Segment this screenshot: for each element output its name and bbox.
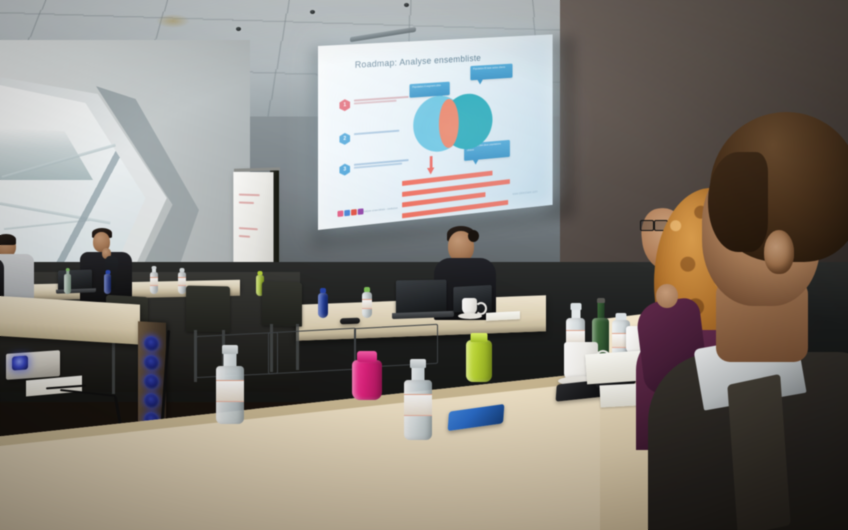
bottle-cap <box>65 268 70 271</box>
bullet-badge-icon: 1 <box>339 99 350 112</box>
bottle-body <box>104 274 111 294</box>
ceiling-stain <box>156 14 190 28</box>
water-bottle-presenter[interactable] <box>318 284 328 318</box>
slide-callout-right: Population B base active clients <box>470 64 512 81</box>
chair[interactable] <box>186 286 230 333</box>
man-suit-lapel <box>727 374 790 530</box>
man-sideburn <box>708 152 768 252</box>
hair <box>0 234 16 245</box>
chair-leg <box>112 340 115 394</box>
bullet-text-lines <box>354 158 409 170</box>
chair[interactable] <box>262 281 302 326</box>
laptop-presenter[interactable] <box>396 280 447 315</box>
flipchart-scribble <box>239 227 258 230</box>
power-socket[interactable] <box>144 393 159 409</box>
water-bottle-presenter-2[interactable] <box>362 282 372 318</box>
bottle-cap <box>364 287 370 292</box>
left-side-table <box>0 295 140 344</box>
bottle-label <box>150 277 158 286</box>
power-socket[interactable] <box>144 336 159 352</box>
flipchart-scribble <box>239 194 260 196</box>
phone-presenter[interactable] <box>340 318 360 325</box>
down-arrow-icon <box>430 156 433 169</box>
slide-logo <box>338 208 364 217</box>
projector-lens-icon <box>12 355 28 370</box>
flipchart-scribble <box>239 235 250 237</box>
power-socket[interactable] <box>144 374 159 390</box>
cup-saucer <box>458 313 482 319</box>
bullet-text-lines <box>354 128 409 136</box>
bottle-body <box>318 293 328 318</box>
presenter-bun <box>468 230 479 242</box>
bottle-cap <box>180 268 185 272</box>
bullet-badge-number: 3 <box>343 167 346 173</box>
bullet-badge-icon: 2 <box>339 133 350 146</box>
lime-drink-bottle-mid[interactable] <box>466 332 492 382</box>
logo-block <box>351 209 357 216</box>
bottle-cap <box>471 333 488 342</box>
bottle-label <box>178 277 186 286</box>
attendee-man-foreground <box>690 112 848 530</box>
bottle-cap <box>152 266 157 269</box>
bottle-cap <box>258 271 263 275</box>
ceiling-spotlight <box>236 27 241 31</box>
magenta-drink-bottle[interactable] <box>352 350 382 400</box>
conference-room-photo: Roadmap: Analyse ensembliste Population … <box>0 0 848 530</box>
man-ear <box>764 230 794 274</box>
chair-frame[interactable] <box>268 328 356 375</box>
bottle-body <box>352 360 382 400</box>
bottle-cap <box>616 313 627 320</box>
water-bottle[interactable] <box>64 268 71 294</box>
water-bottle[interactable] <box>150 264 158 294</box>
ceiling-spotlight <box>404 3 409 7</box>
projection-screen: Roadmap: Analyse ensembliste Population … <box>318 34 553 230</box>
bottle-cap <box>410 359 426 368</box>
slide-bullet-3: 3 <box>339 158 408 176</box>
slide-bullet-1: 1 <box>339 95 408 112</box>
woman-hand <box>656 284 678 308</box>
bullet-text-lines <box>354 95 409 106</box>
bottle-cap <box>597 298 605 303</box>
bottle-body <box>466 340 492 382</box>
venn-diagram <box>413 92 492 158</box>
bottle-label <box>362 299 372 309</box>
glasses-lens-left <box>640 220 654 231</box>
callout-left-text: Population A segment cible <box>410 82 450 92</box>
logo-block <box>338 210 344 217</box>
bottle-neck <box>412 367 425 380</box>
callout-right-text: Population B base active clients <box>470 64 512 74</box>
bottle-neck <box>597 302 604 318</box>
torso <box>0 254 34 300</box>
water-bottle[interactable] <box>104 268 111 294</box>
bottle-cap <box>222 345 238 354</box>
bullet-badge-icon: 3 <box>339 163 350 176</box>
bottle-neck <box>224 353 237 366</box>
bottle-cap <box>320 288 326 293</box>
projected-slide: Roadmap: Analyse ensembliste Population … <box>318 34 553 230</box>
water-bottle[interactable] <box>178 264 186 294</box>
ceiling-spotlight <box>310 10 315 14</box>
bottle-label <box>404 394 432 416</box>
water-bottle-foreground-left[interactable] <box>216 346 244 424</box>
flipchart-scribble <box>239 201 254 203</box>
logo-block <box>344 210 350 217</box>
bottle-label <box>216 380 244 402</box>
slide-bullet-2: 2 <box>339 128 408 145</box>
bullet-badge-number: 1 <box>343 102 346 108</box>
bottle-neck <box>571 309 580 318</box>
bottle-cap <box>357 351 377 362</box>
slide-footer-url: www.slideshare.com <box>512 190 537 196</box>
water-bottle-foreground-center[interactable] <box>404 358 432 440</box>
bottle-body <box>64 274 71 294</box>
slide-footer-text: Analyse ensembliste - restitution <box>363 207 398 214</box>
bottle-cap <box>570 303 581 310</box>
power-socket[interactable] <box>144 355 159 371</box>
slide-title: Roadmap: Analyse ensembliste <box>355 53 481 70</box>
bullet-badge-number: 2 <box>343 136 346 142</box>
bottle-cap <box>105 270 110 274</box>
